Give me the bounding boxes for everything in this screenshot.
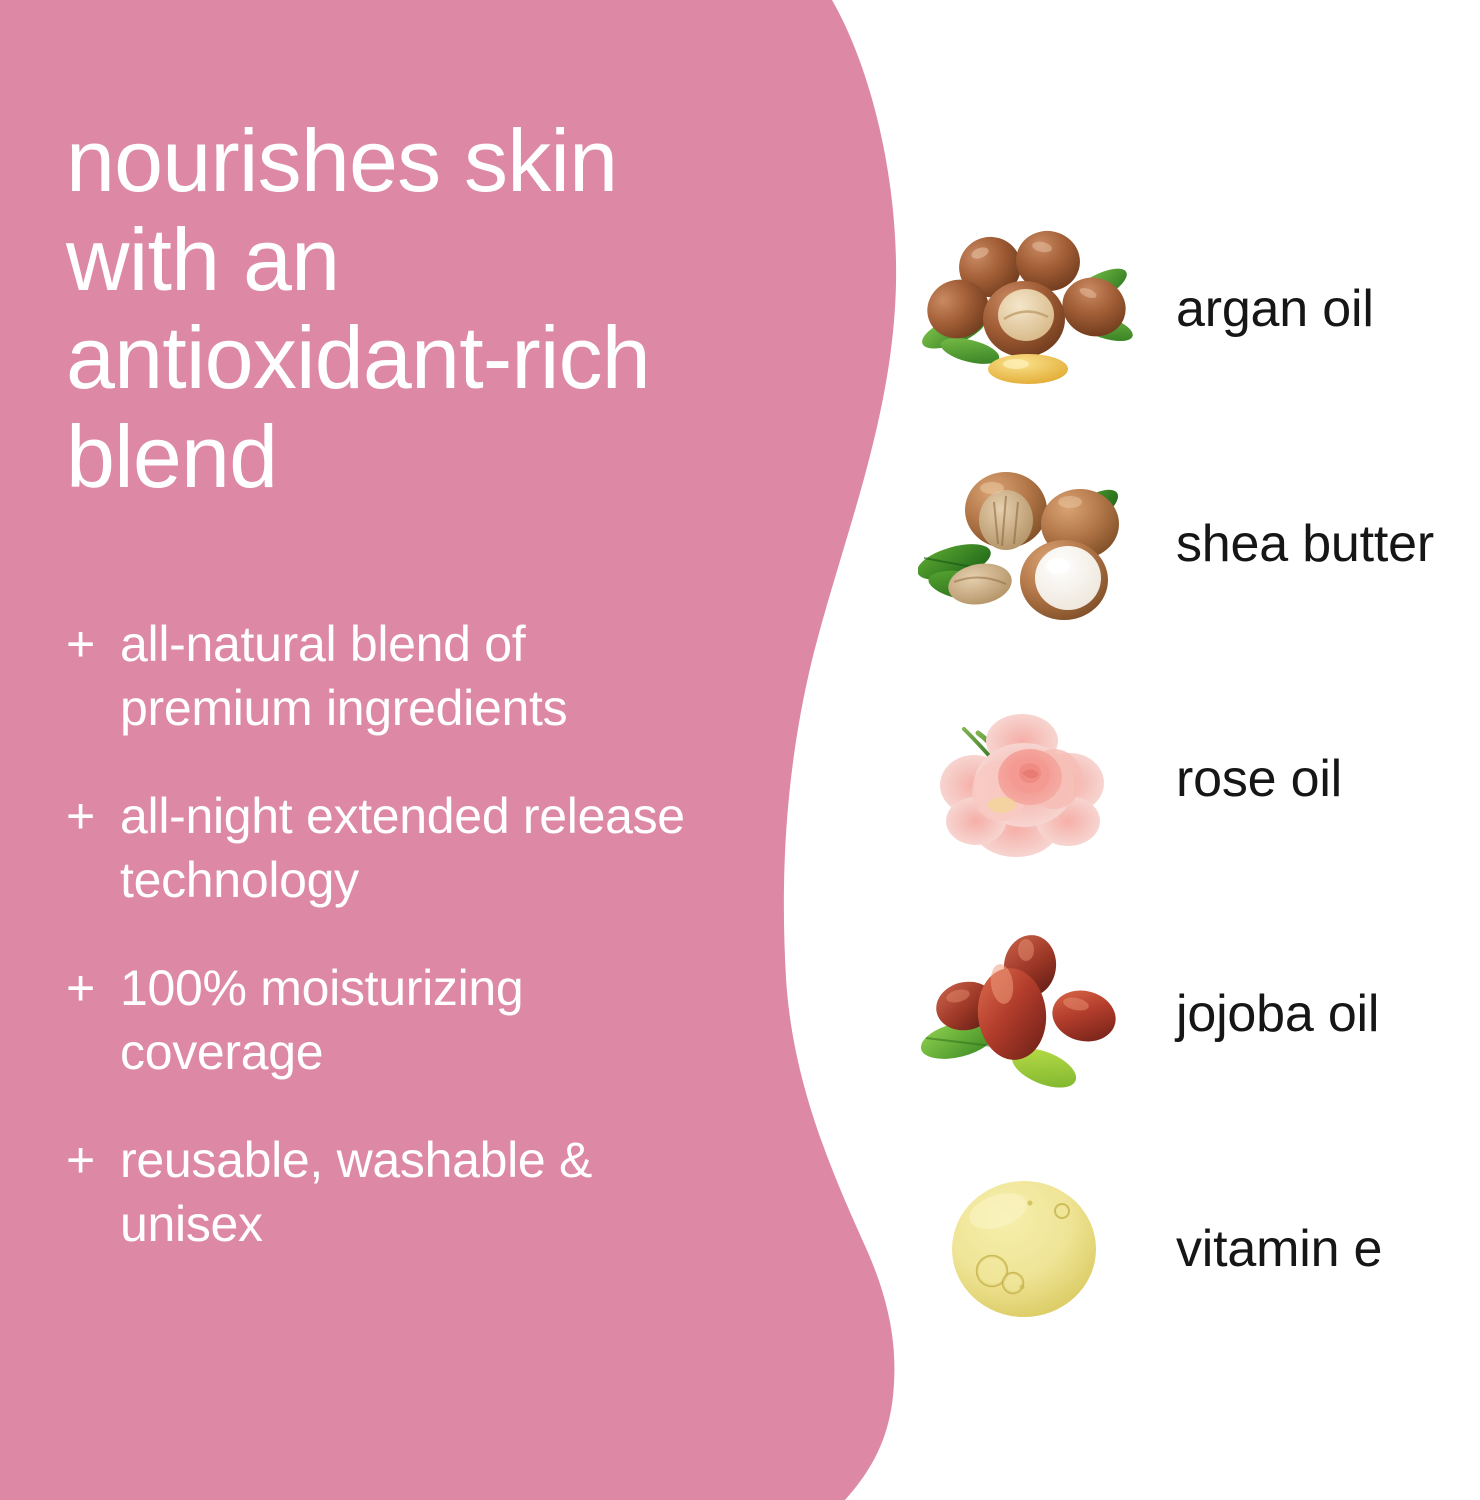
list-item: + reusable, washable & unisex bbox=[66, 1128, 726, 1256]
ingredient-label: shea butter bbox=[1176, 516, 1480, 573]
list-item: jojoba oil bbox=[900, 915, 1480, 1115]
argan-nuts-image bbox=[910, 218, 1140, 403]
plus-icon: + bbox=[66, 956, 120, 1020]
list-item: argan oil bbox=[900, 210, 1480, 410]
plus-icon: + bbox=[66, 612, 120, 676]
plus-icon: + bbox=[66, 784, 120, 848]
plus-icon: + bbox=[66, 1128, 120, 1192]
ingredient-label: jojoba oil bbox=[1176, 986, 1480, 1043]
benefit-text: all-natural blend of premium ingredients bbox=[120, 612, 726, 740]
list-item: vitamin e bbox=[900, 1150, 1480, 1350]
list-item: rose oil bbox=[900, 680, 1480, 880]
benefit-text: all-night extended release technology bbox=[120, 784, 726, 912]
left-copy-panel: nourishes skin with an antioxidant-rich … bbox=[0, 0, 760, 1500]
benefit-text: reusable, washable & unisex bbox=[120, 1128, 726, 1256]
ingredient-label: vitamin e bbox=[1176, 1221, 1480, 1278]
rose-flower-image bbox=[910, 688, 1140, 873]
jojoba-berries-image bbox=[910, 923, 1140, 1108]
list-item: + 100% moisturizing coverage bbox=[66, 956, 726, 1084]
ingredient-list: argan oil bbox=[900, 196, 1480, 1376]
oil-droplet-image bbox=[910, 1158, 1140, 1343]
ingredient-label: rose oil bbox=[1176, 751, 1480, 808]
list-item: shea butter bbox=[900, 445, 1480, 645]
ingredient-label: argan oil bbox=[1176, 281, 1480, 338]
page-title: nourishes skin with an antioxidant-rich … bbox=[66, 112, 746, 506]
benefit-list: + all-natural blend of premium ingredien… bbox=[66, 612, 726, 1256]
benefit-text: 100% moisturizing coverage bbox=[120, 956, 726, 1084]
list-item: + all-night extended release technology bbox=[66, 784, 726, 912]
list-item: + all-natural blend of premium ingredien… bbox=[66, 612, 726, 740]
shea-nuts-image bbox=[910, 453, 1140, 638]
